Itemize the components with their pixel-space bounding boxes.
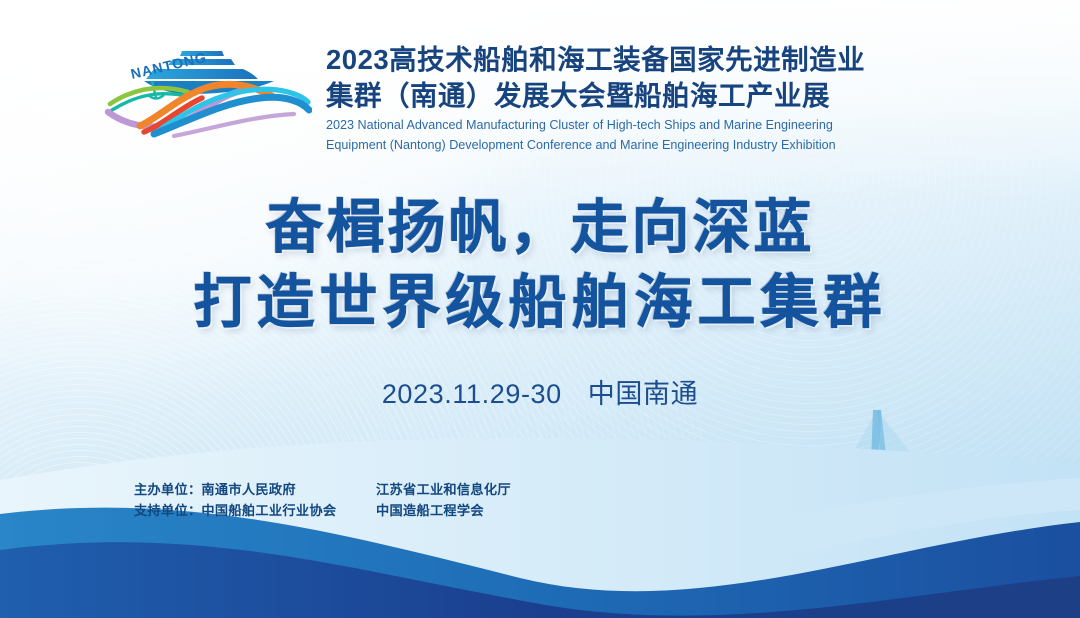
- slogan-block: 奋楫扬帆，走向深蓝 打造世界级船舶海工集群: [0, 190, 1080, 341]
- title-cn-line2: 集群（南通）发展大会暨船舶海工产业展: [326, 78, 865, 114]
- organizer-host-label: 主办单位：南通市人民政府: [134, 479, 376, 500]
- slogan-line-2: 打造世界级船舶海工集群: [0, 265, 1080, 340]
- organizer-row: 支持单位：中国船舶工业行业协会 中国造船工程学会: [134, 500, 511, 521]
- conference-banner: NANTONG 2023高技术船舶和海工装备国家先进制造业 集群（南通）发展大会…: [0, 0, 1080, 618]
- event-city: 中国南通: [588, 372, 698, 411]
- event-date-city: 2023.11.29-30 中国南通: [0, 372, 1080, 411]
- organizer-support-label: 支持单位：中国船舶工业行业协会: [134, 500, 376, 521]
- title-cn-line1: 2023高技术船舶和海工装备国家先进制造业: [326, 42, 865, 78]
- slogan-line-1: 奋楫扬帆，走向深蓝: [0, 190, 1080, 265]
- organizer-host-secondary: 江苏省工业和信息化厅: [376, 479, 511, 500]
- banner-header: NANTONG 2023高技术船舶和海工装备国家先进制造业 集群（南通）发展大会…: [104, 40, 1004, 155]
- event-date: 2023.11.29-30: [382, 379, 562, 410]
- title-en-line1: 2023 National Advanced Manufacturing Clu…: [326, 117, 865, 135]
- organizer-row: 主办单位：南通市人民政府 江苏省工业和信息化厅: [134, 479, 511, 500]
- header-text-block: 2023高技术船舶和海工装备国家先进制造业 集群（南通）发展大会暨船舶海工产业展…: [326, 40, 865, 155]
- title-en-line2: Equipment (Nantong) Development Conferen…: [326, 137, 865, 155]
- nantong-city-logo: NANTONG: [104, 40, 312, 140]
- bridge-silhouette-icon: [780, 388, 1080, 578]
- organizers-block: 主办单位：南通市人民政府 江苏省工业和信息化厅 支持单位：中国船舶工业行业协会 …: [134, 479, 511, 521]
- organizer-support-secondary: 中国造船工程学会: [376, 500, 484, 521]
